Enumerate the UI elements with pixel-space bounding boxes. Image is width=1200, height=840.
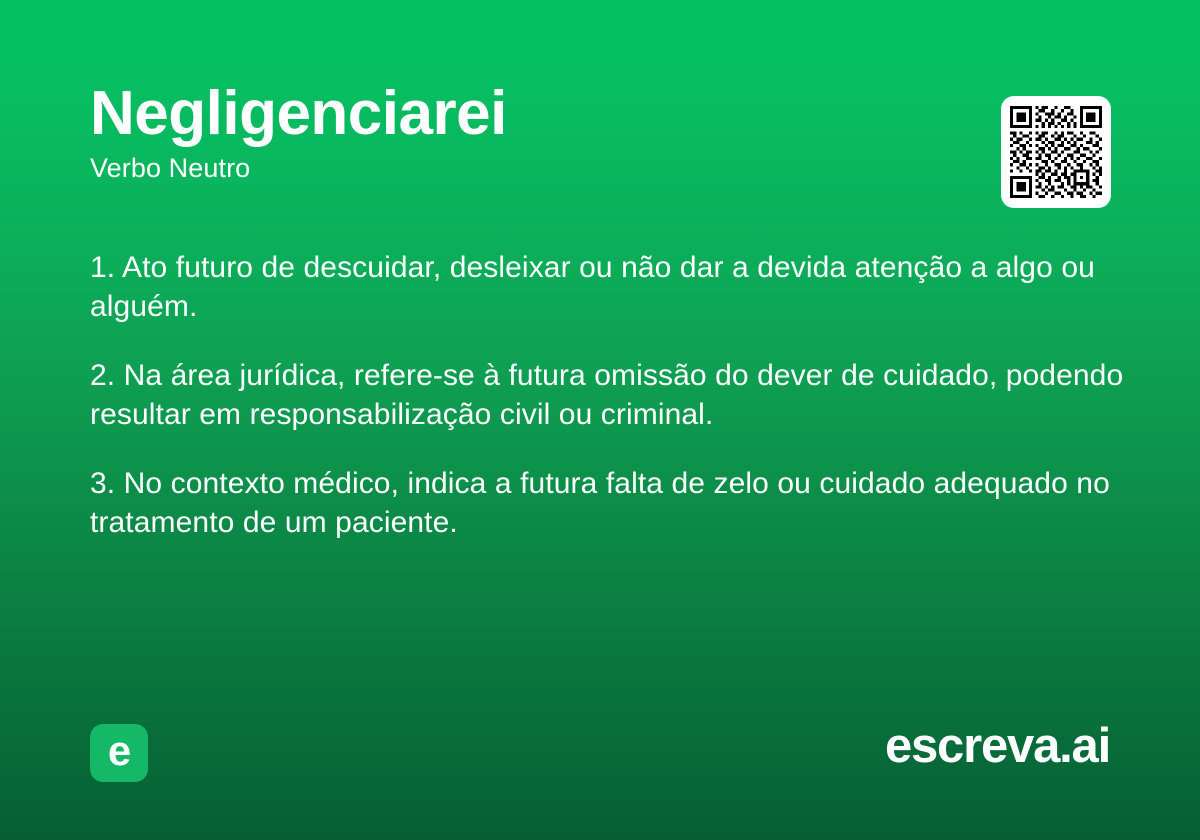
page-title: Negligenciarei [90,82,950,145]
definition-item: 2. Na área jurídica, refere-se à futura … [90,356,1130,434]
brand-logo-mark: e [90,724,148,782]
definitions-list: 1. Ato futuro de descuidar, desleixar ou… [90,248,1130,542]
card-header: Negligenciarei Verbo Neutro [90,82,950,184]
word-class-label: Verbo Neutro [90,153,950,184]
qr-code-icon [1010,106,1102,198]
definition-item: 3. No contexto médico, indica a futura f… [90,464,1130,542]
brand-wordmark: escreva.ai [885,722,1110,771]
definition-item: 1. Ato futuro de descuidar, desleixar ou… [90,248,1130,326]
qr-code-panel[interactable] [1001,96,1111,208]
logo-letter: e [108,730,130,772]
dictionary-card: Negligenciarei Verbo Neutro [0,0,1200,840]
